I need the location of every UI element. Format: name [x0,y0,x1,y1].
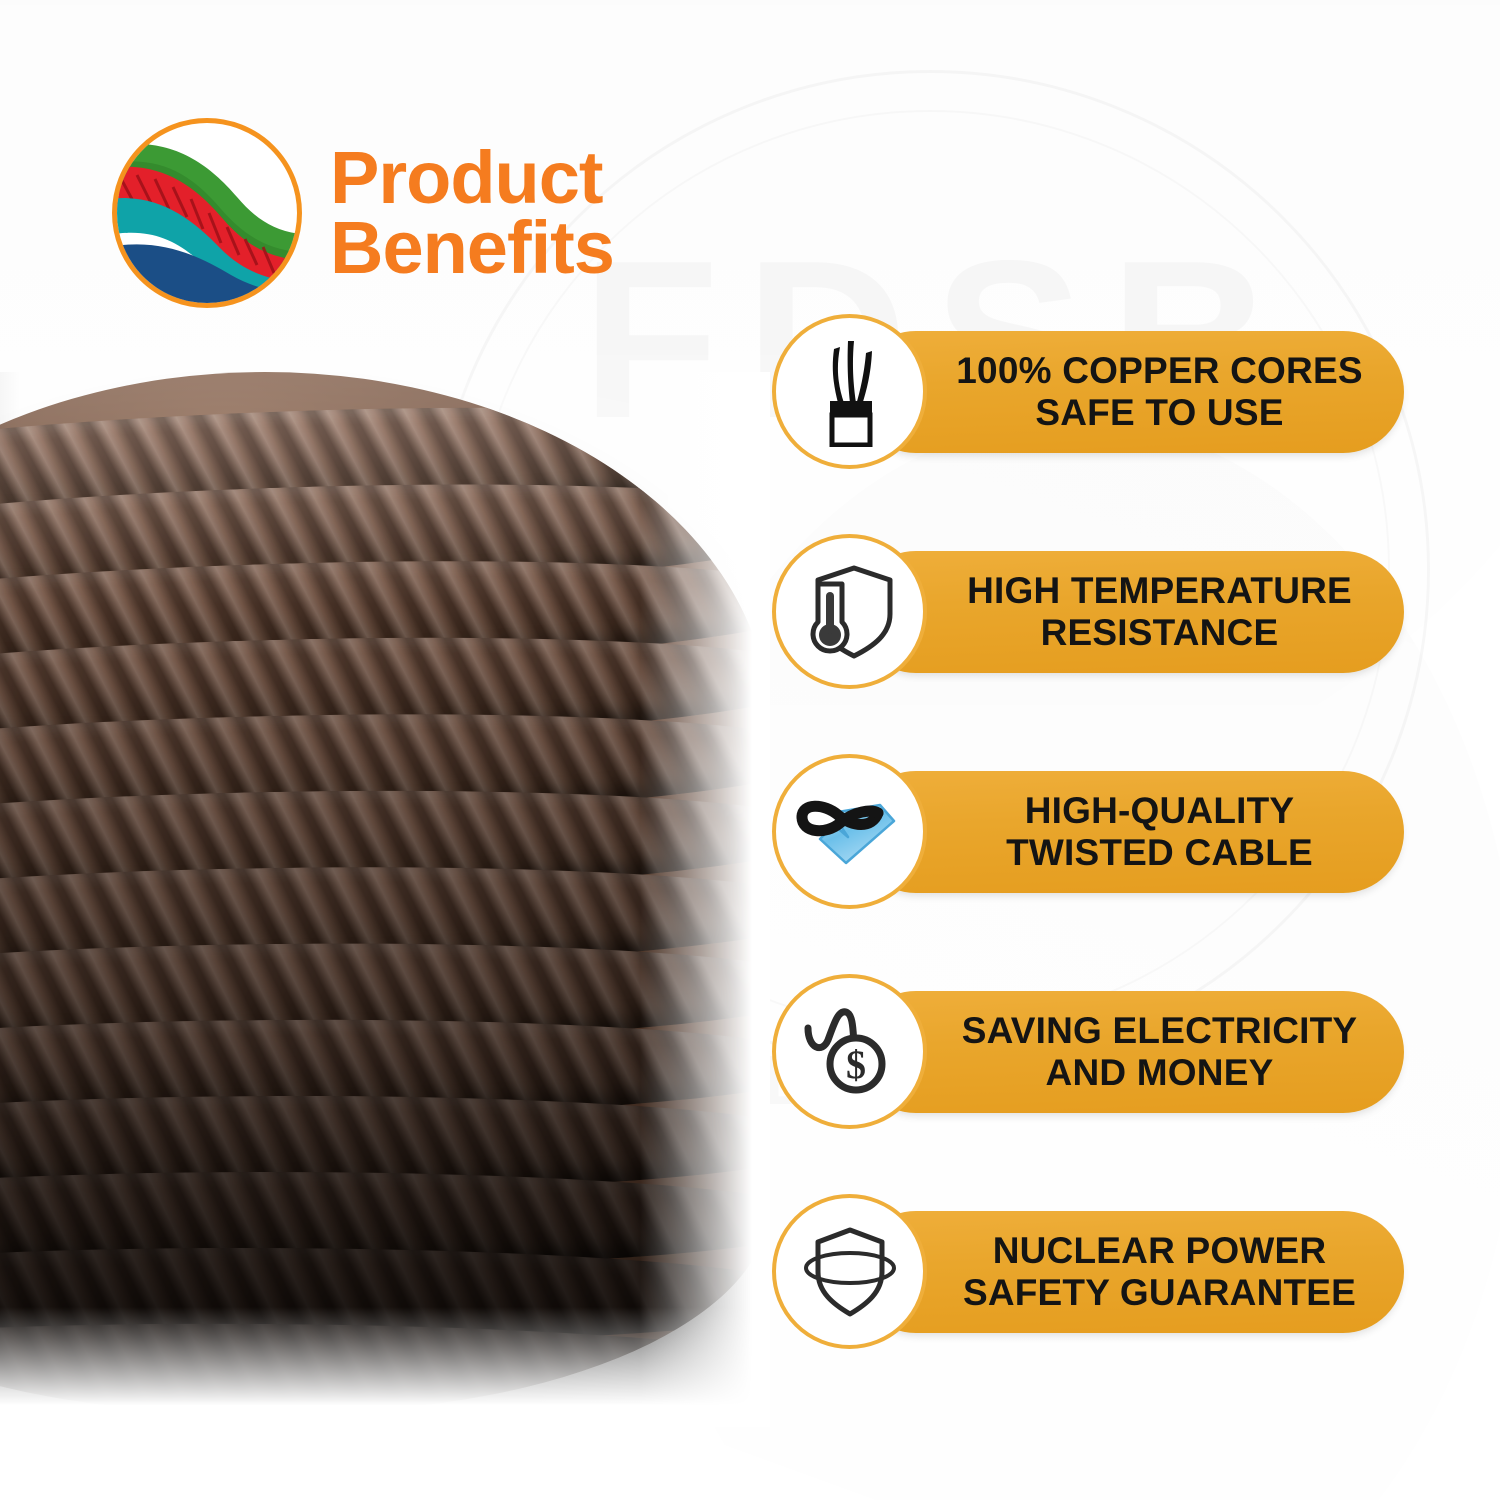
benefit-icon-circle [772,754,927,909]
benefit-item-saving-electricity[interactable]: SAVING ELECTRICITY AND MONEY $ [772,974,1432,1129]
cable-strands-icon [804,337,896,447]
page-title: Product Benefits [330,143,614,284]
benefit-label: HIGH-QUALITY TWISTED CABLE [1006,790,1313,874]
benefit-pill[interactable]: HIGH TEMPERATURE RESISTANCE [855,551,1404,673]
benefit-icon-circle [772,534,927,689]
svg-text:$: $ [846,1042,866,1087]
benefit-item-nuclear-safety[interactable]: NUCLEAR POWER SAFETY GUARANTEE [772,1194,1432,1349]
benefit-item-copper-cores[interactable]: 100% COPPER CORES SAFE TO USE [772,314,1432,469]
benefit-pill[interactable]: NUCLEAR POWER SAFETY GUARANTEE [855,1211,1404,1333]
cable-coil-rows [0,372,770,1412]
product-benefits-logo [112,118,302,308]
thermometer-shield-icon [798,560,902,664]
shield-orbit-icon [797,1222,903,1322]
benefit-item-twisted-cable[interactable]: HIGH-QUALITY TWISTED CABLE [772,754,1432,909]
benefit-pill[interactable]: HIGH-QUALITY TWISTED CABLE [855,771,1404,893]
benefit-icon-circle [772,314,927,469]
benefit-label: HIGH TEMPERATURE RESISTANCE [967,570,1352,654]
logo-waves-icon [112,123,302,307]
benefits-list: 100% COPPER CORES SAFE TO USE HIGH TEMPE… [772,314,1432,1349]
benefit-icon-circle: $ [772,974,927,1129]
benefit-pill[interactable]: 100% COPPER CORES SAFE TO USE [855,331,1404,453]
benefit-label: 100% COPPER CORES SAFE TO USE [956,350,1362,434]
benefit-pill[interactable]: SAVING ELECTRICITY AND MONEY [855,991,1404,1113]
product-photo [0,372,770,1427]
benefit-label: SAVING ELECTRICITY AND MONEY [962,1010,1358,1094]
benefit-item-high-temperature[interactable]: HIGH TEMPERATURE RESISTANCE [772,534,1432,689]
benefit-icon-circle [772,1194,927,1349]
benefit-label: NUCLEAR POWER SAFETY GUARANTEE [963,1230,1356,1314]
cable-coil-row [0,1320,770,1412]
header-logo-block: Product Benefits [112,118,614,308]
cable-spool [0,372,770,1412]
wave-dollar-coin-icon: $ [800,1002,900,1102]
twisted-cable-check-icon [794,787,906,877]
